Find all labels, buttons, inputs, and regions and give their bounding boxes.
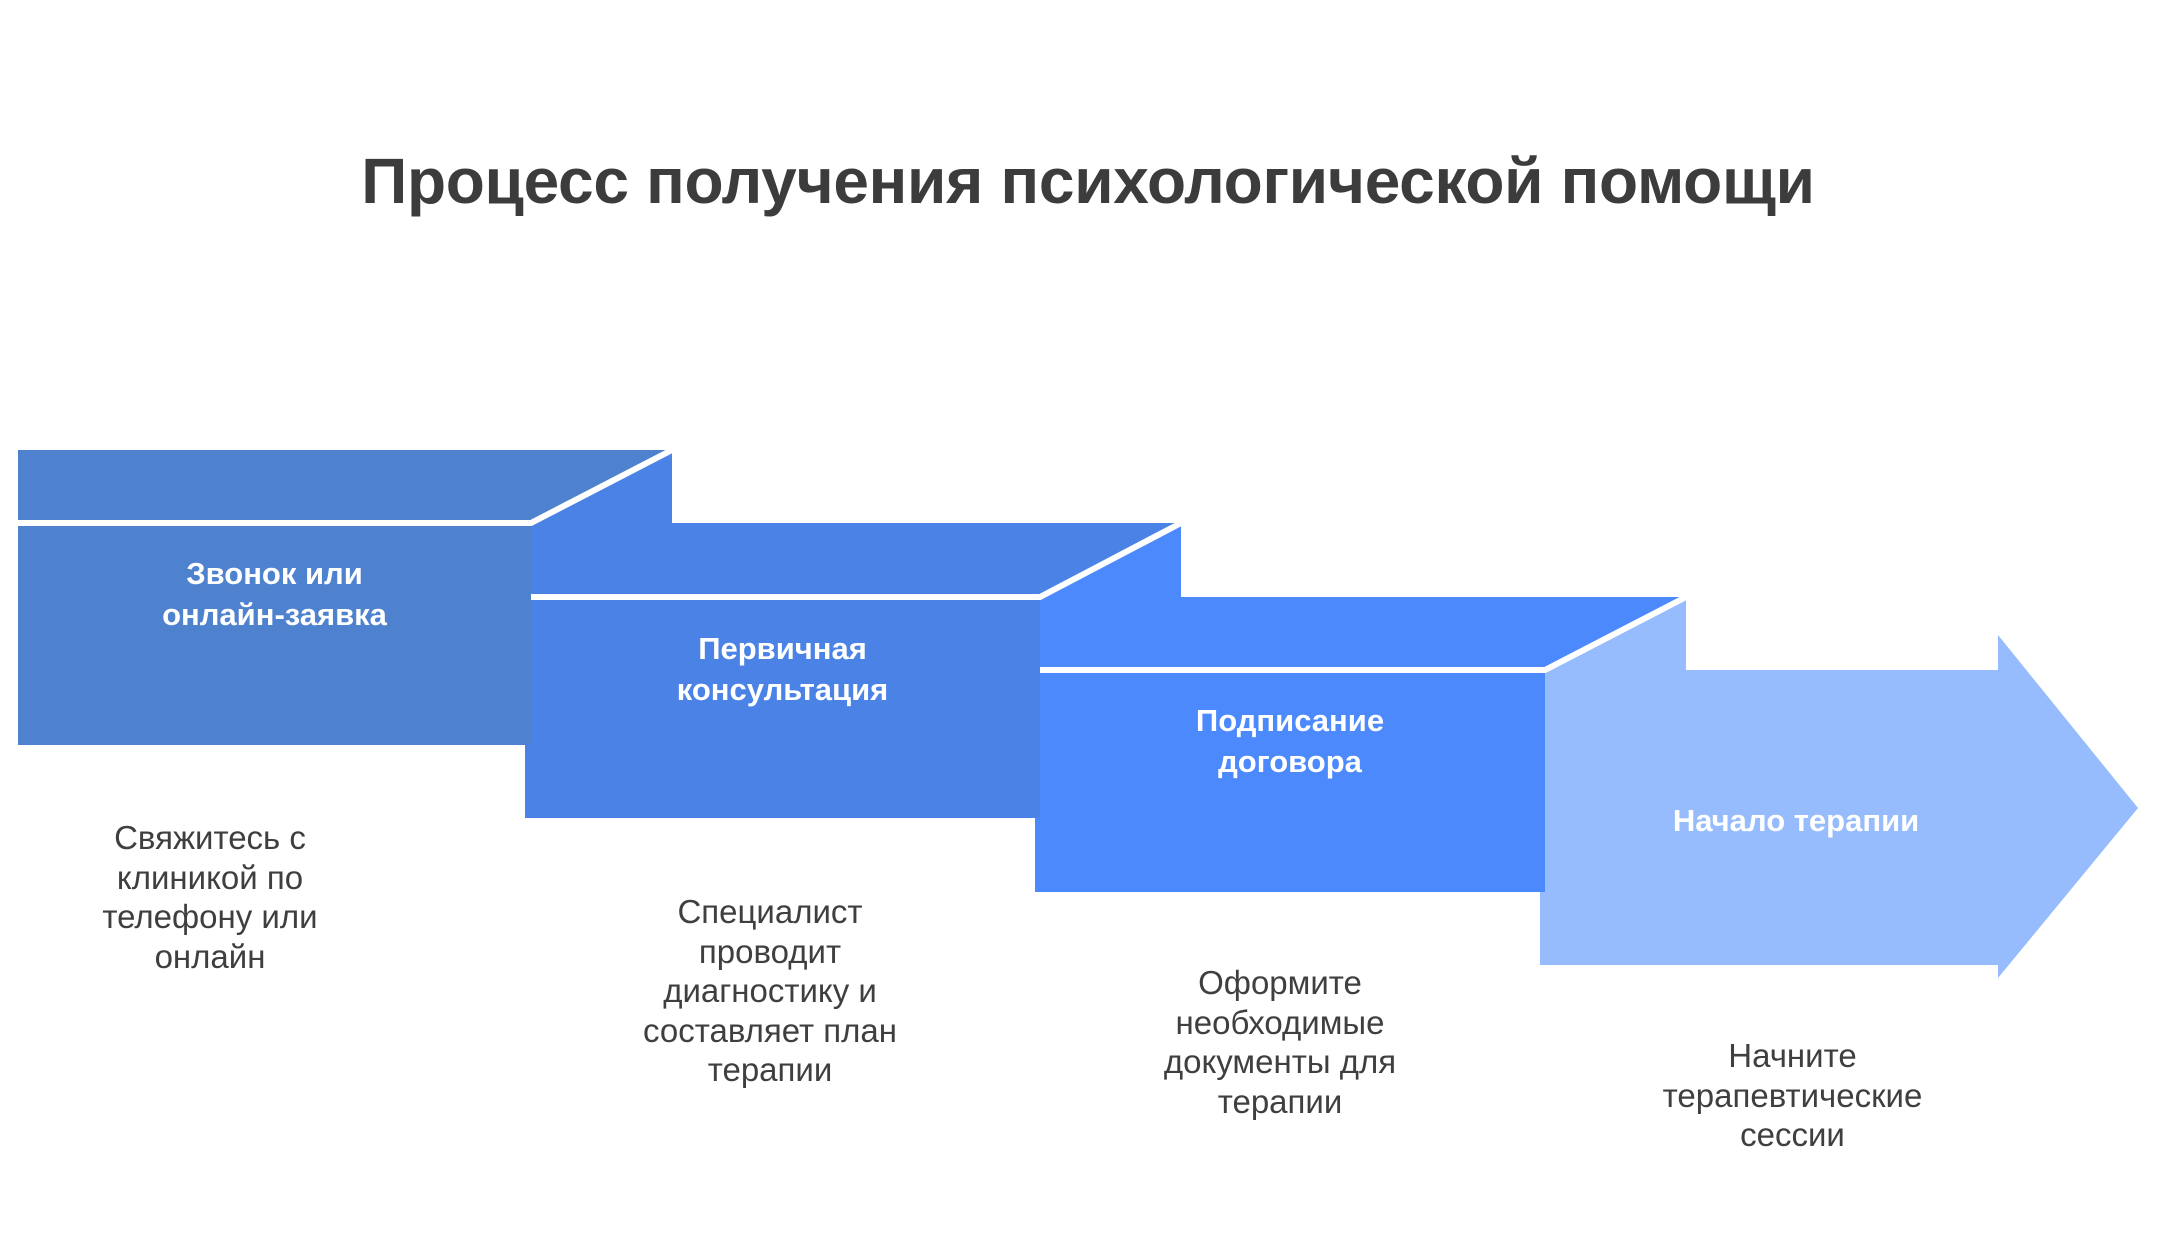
step-4-label: Начало терапии — [1540, 800, 2052, 841]
step-4-caption: Начните терапевтические сессии — [1585, 1036, 2000, 1155]
step-1-label: Звонок или онлайн-заявка — [18, 553, 531, 635]
step-3-caption: Оформите необходимые документы для терап… — [1080, 963, 1480, 1121]
slide-canvas: Процесс получения психологической помощи… — [0, 0, 2176, 1256]
step-3-label: Подписание договора — [1035, 700, 1545, 782]
step-2-caption: Специалист проводит диагностику и состав… — [570, 892, 970, 1090]
step-1-caption: Свяжитесь с клиникой по телефону или онл… — [10, 818, 410, 976]
step-2-label: Первичная консультация — [525, 628, 1040, 710]
